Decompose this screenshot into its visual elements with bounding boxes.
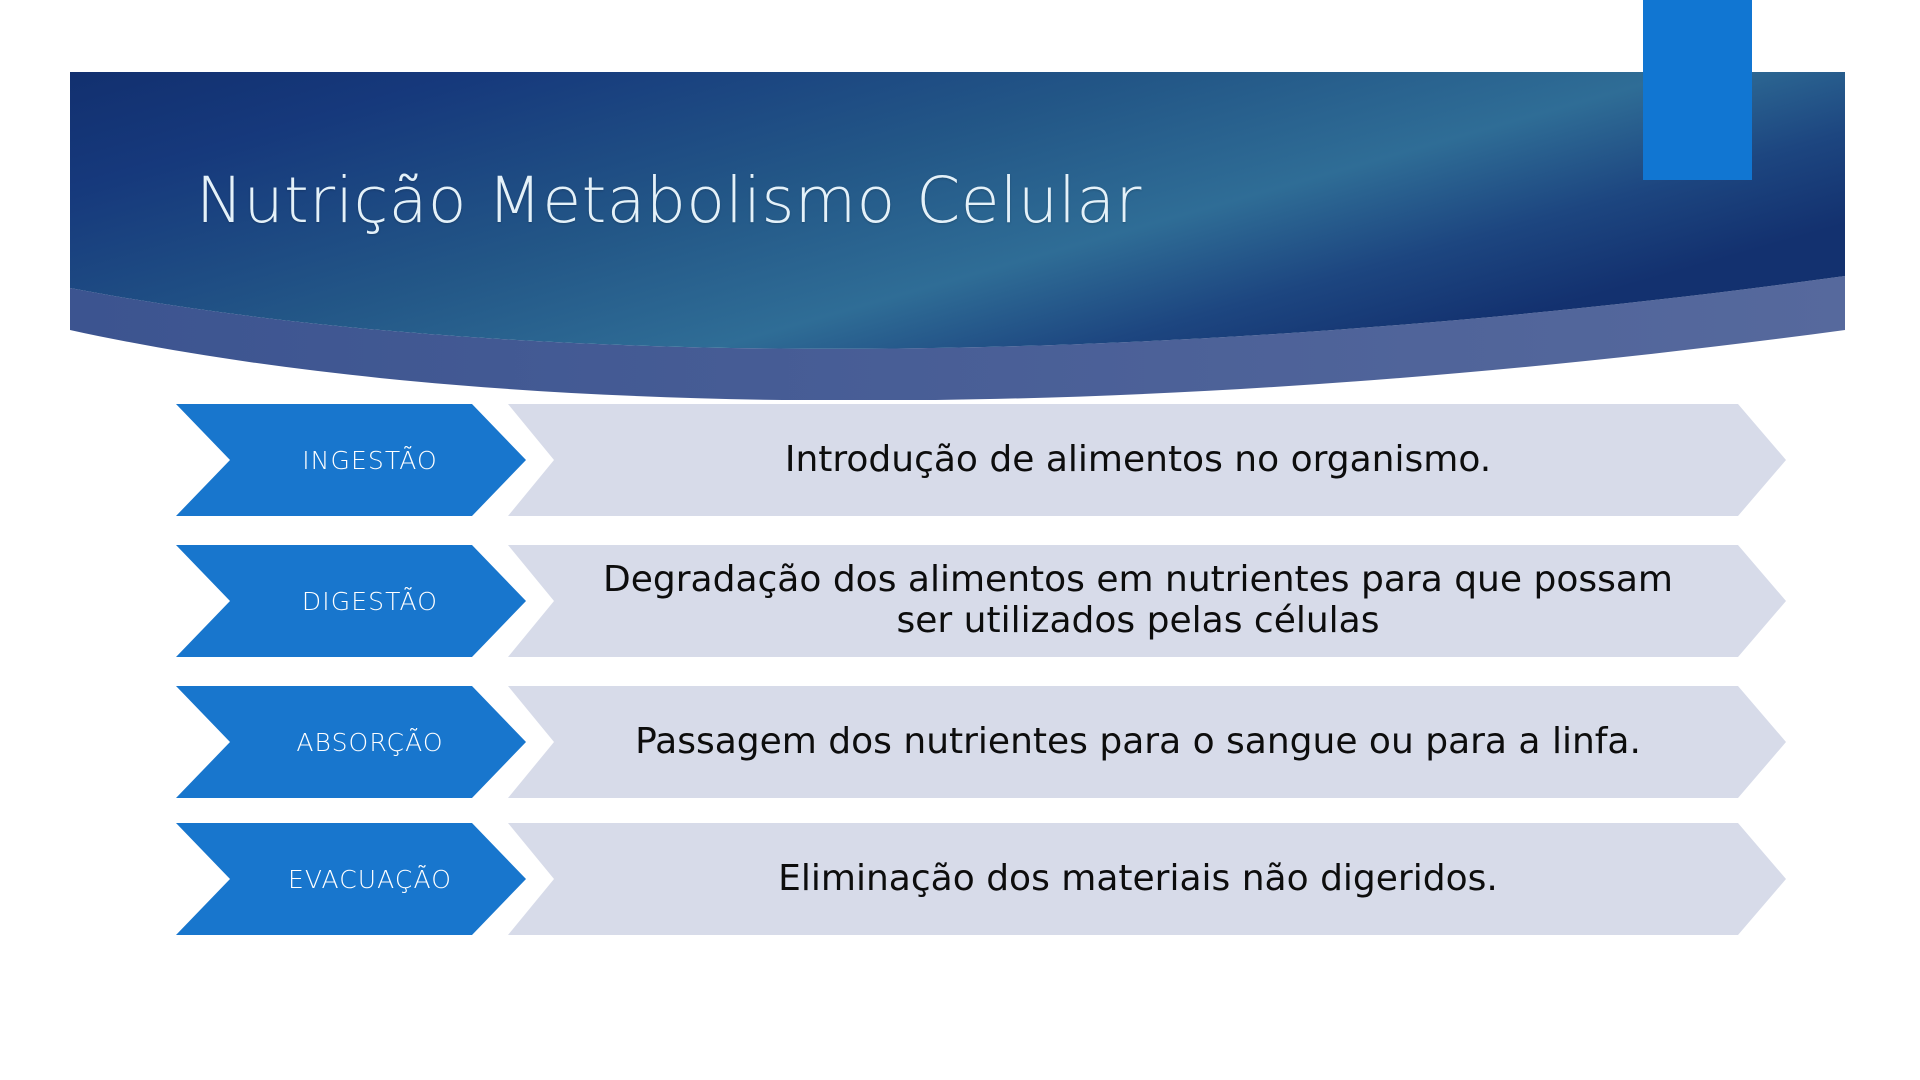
process-step-row: ABSORÇÃO Passagem dos nutrientes para o … xyxy=(0,686,1920,798)
process-step-label-chevron[interactable]: DIGESTÃO xyxy=(176,545,526,657)
process-step-label-text: ABSORÇÃO xyxy=(232,728,508,757)
process-step-label-text: INGESTÃO xyxy=(232,446,508,475)
process-step-description-text: Eliminação dos materiais não digeridos. xyxy=(582,859,1694,900)
process-step-description-chevron[interactable]: Eliminação dos materiais não digeridos. xyxy=(508,823,1786,935)
process-step-label-chevron[interactable]: ABSORÇÃO xyxy=(176,686,526,798)
process-step-label-chevron[interactable]: EVACUAÇÃO xyxy=(176,823,526,935)
process-step-row: EVACUAÇÃO Eliminação dos materiais não d… xyxy=(0,823,1920,935)
presentation-slide: Nutrição Metabolismo Celular INGESTÃO In… xyxy=(0,0,1920,1080)
process-step-description-text: Introdução de alimentos no organismo. xyxy=(582,440,1694,481)
process-step-label-text: DIGESTÃO xyxy=(232,587,508,616)
process-step-description-text: Passagem dos nutrientes para o sangue ou… xyxy=(582,722,1694,763)
process-step-description-chevron[interactable]: Passagem dos nutrientes para o sangue ou… xyxy=(508,686,1786,798)
process-step-description-chevron[interactable]: Degradação dos alimentos em nutrientes p… xyxy=(508,545,1786,657)
process-step-row: INGESTÃO Introdução de alimentos no orga… xyxy=(0,404,1920,516)
process-step-row: DIGESTÃO Degradação dos alimentos em nut… xyxy=(0,545,1920,657)
process-step-description-text: Degradação dos alimentos em nutrientes p… xyxy=(582,560,1694,641)
process-chevron-list: INGESTÃO Introdução de alimentos no orga… xyxy=(0,0,1920,1080)
process-step-description-chevron[interactable]: Introdução de alimentos no organismo. xyxy=(508,404,1786,516)
process-step-label-text: EVACUAÇÃO xyxy=(232,865,508,894)
process-step-label-chevron[interactable]: INGESTÃO xyxy=(176,404,526,516)
